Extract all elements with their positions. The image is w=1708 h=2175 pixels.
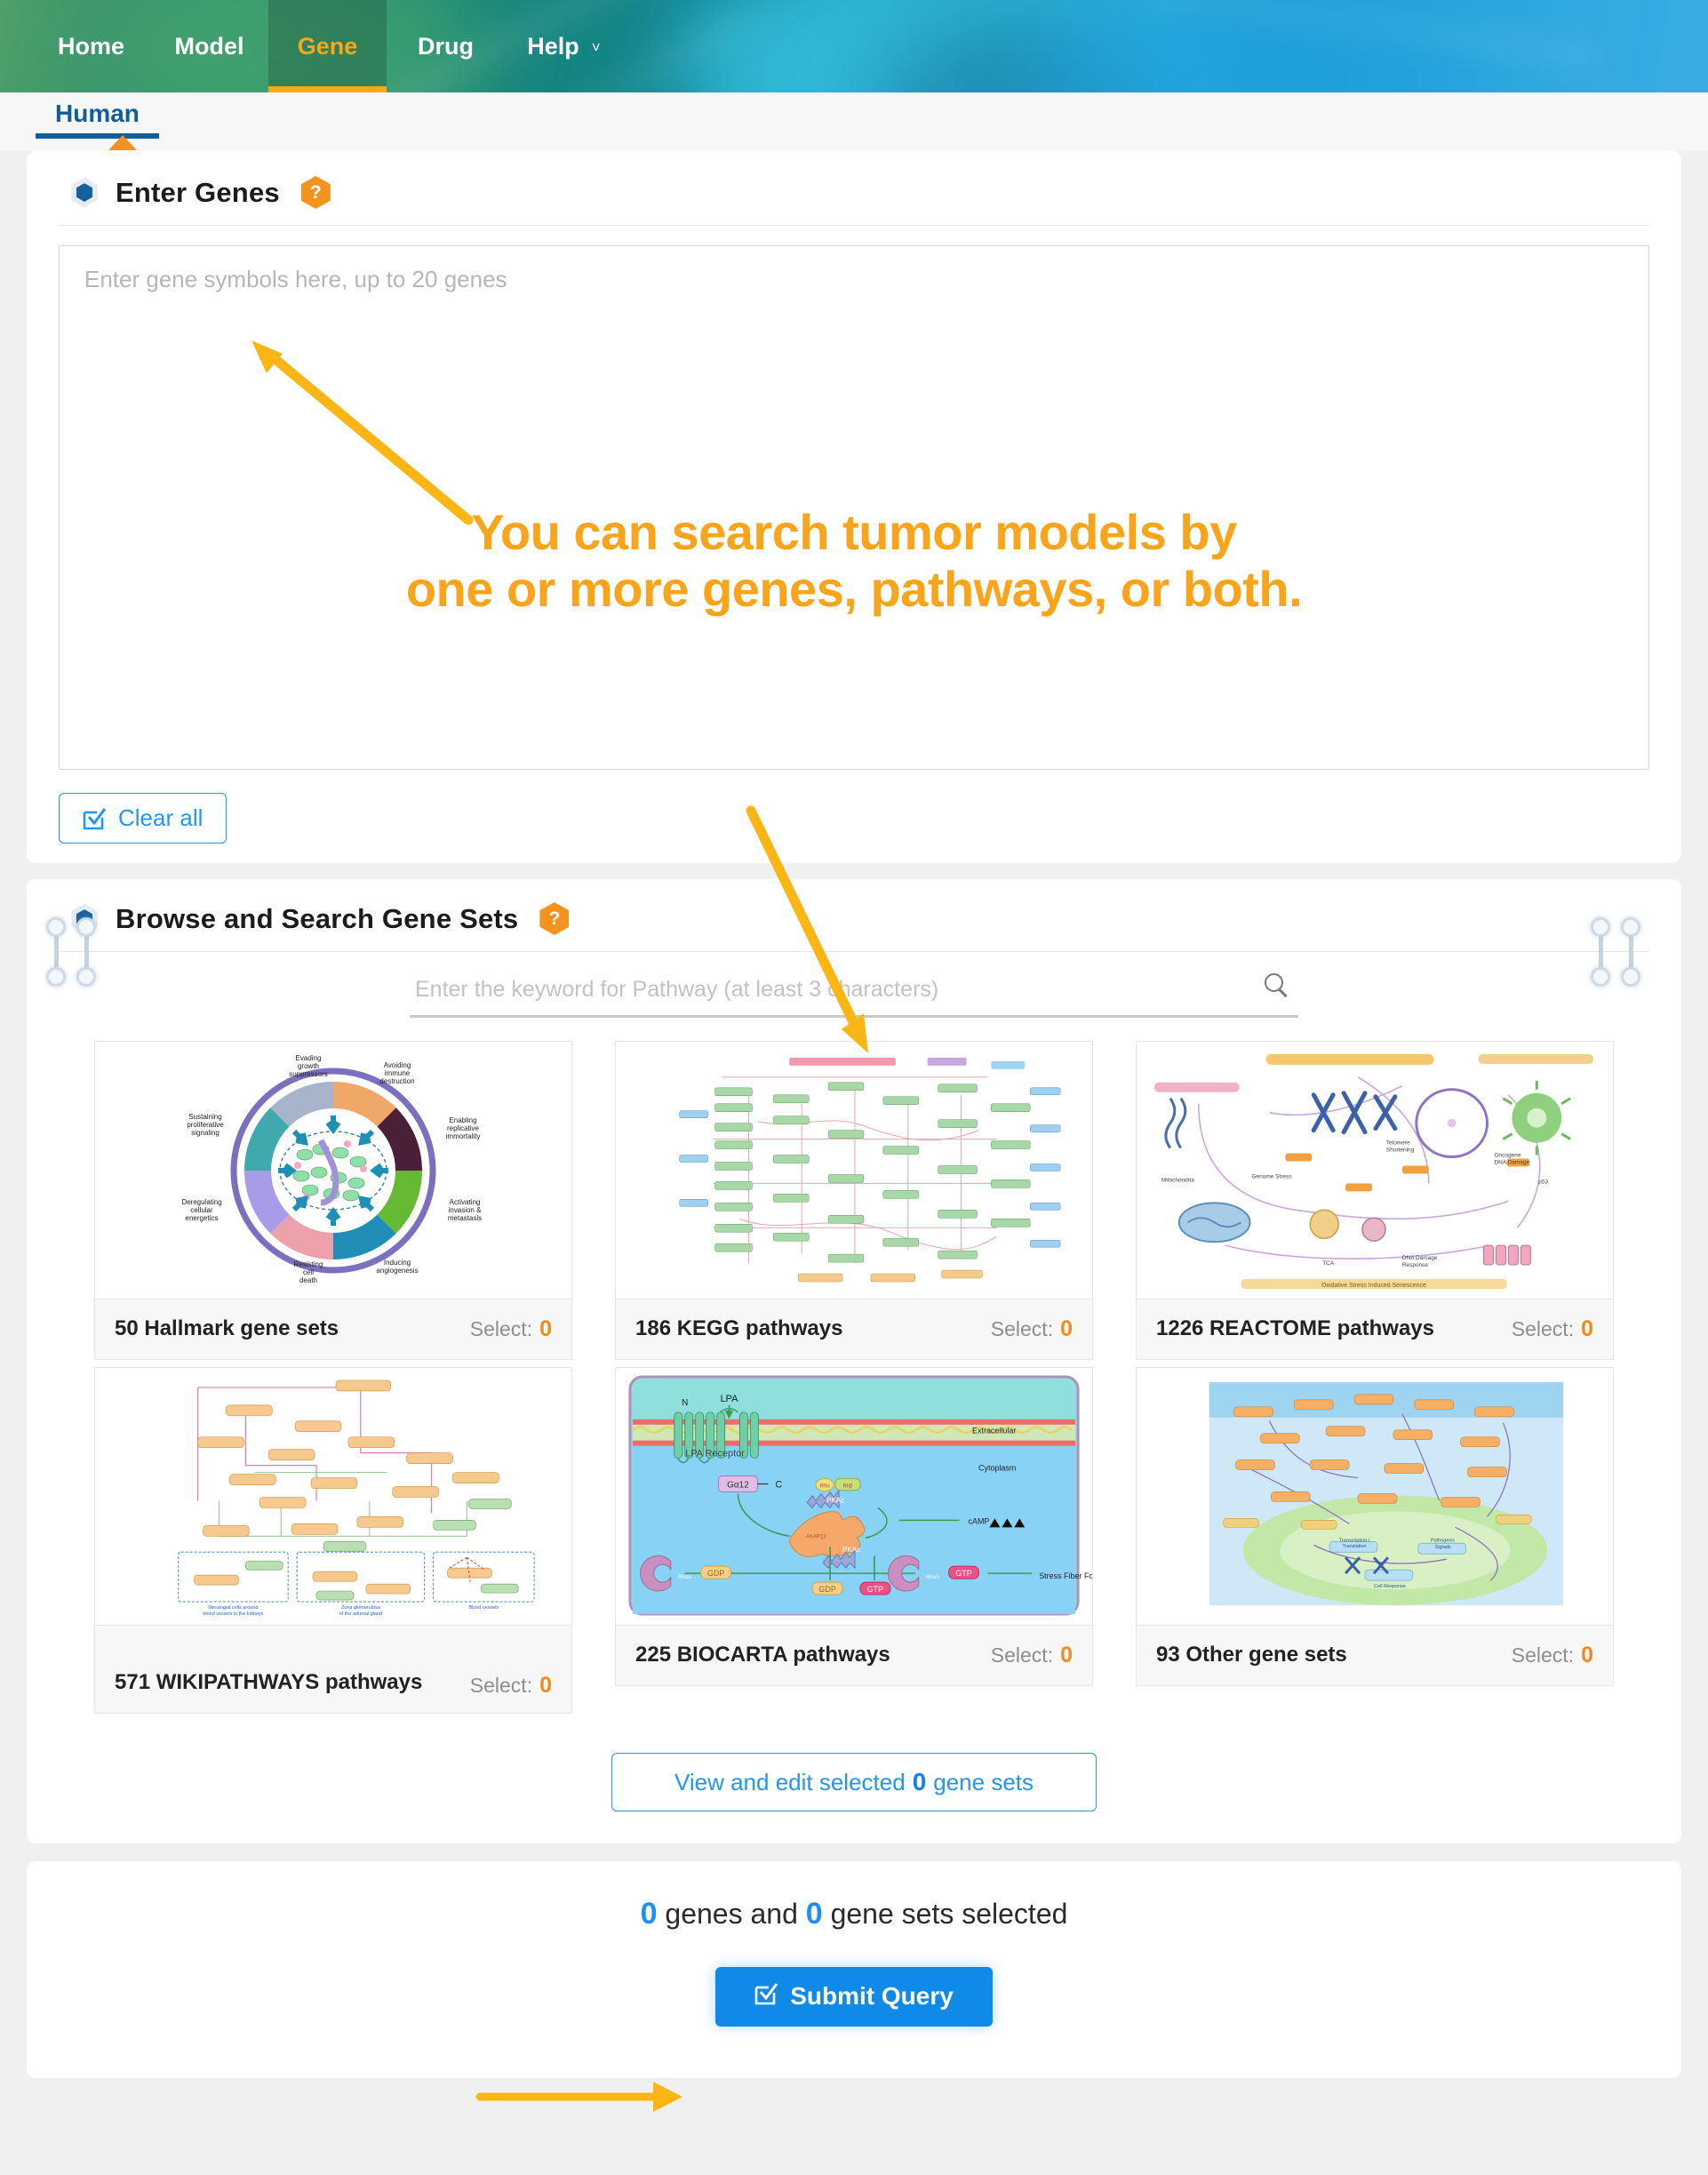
chevron-down-icon: ˅ xyxy=(592,2,601,92)
genes-word: genes and xyxy=(665,1898,797,1930)
gene-set-name: 225 BIOCARTA pathways xyxy=(635,1640,890,1671)
view-edit-prefix: View and edit selected xyxy=(674,1769,906,1795)
divider xyxy=(59,951,1649,952)
reactome-diagram-icon: Genome StressTelomere ShorteningOncogene… xyxy=(1136,1041,1614,1299)
pathway-search-placeholder: Enter the keyword for Pathway (at least … xyxy=(410,977,1298,1003)
submit-panel: 0 genes and 0 gene sets selected Submit … xyxy=(27,1861,1681,2078)
gene-set-selected-count: Select:0 xyxy=(470,1316,552,1342)
nav-item-help[interactable]: Help˅ xyxy=(505,0,623,92)
svg-text:Deregulating: Deregulating xyxy=(181,1198,221,1206)
nav-item-label: Gene xyxy=(298,33,358,60)
gene-sets-count: 0 xyxy=(806,1897,823,1931)
svg-text:Enabling: Enabling xyxy=(449,1116,476,1124)
gene-set-card-meta: 225 BIOCARTA pathways Select:0 xyxy=(615,1625,1093,1686)
svg-text:Blood vessels: Blood vessels xyxy=(468,1605,499,1611)
gene-sets-word: gene sets selected xyxy=(831,1898,1068,1930)
svg-text:TCA: TCA xyxy=(1322,1260,1335,1267)
gene-set-card-reactome[interactable]: Genome StressTelomere ShorteningOncogene… xyxy=(1136,1041,1614,1360)
svg-text:Pathogenic: Pathogenic xyxy=(1431,1538,1456,1543)
svg-text:Cell Response: Cell Response xyxy=(1374,1584,1406,1589)
svg-text:of the adrenal gland: of the adrenal gland xyxy=(339,1611,382,1617)
svg-text:cAMP: cAMP xyxy=(969,1516,990,1525)
svg-text:Zona glomerulosa: Zona glomerulosa xyxy=(341,1605,381,1611)
view-edit-count: 0 xyxy=(913,1768,927,1795)
svg-text:RhoA: RhoA xyxy=(926,1575,939,1580)
gene-set-card-kegg[interactable]: 186 KEGG pathways Select:0 xyxy=(615,1041,1093,1360)
gene-set-selected-count: Select:0 xyxy=(1512,1316,1593,1342)
view-edit-selected-button[interactable]: View and edit selected0gene sets xyxy=(611,1753,1097,1811)
svg-text:GDP: GDP xyxy=(707,1569,724,1578)
genes-count: 0 xyxy=(641,1897,658,1931)
hallmarks-of-cancer-wheel-icon: Evadinggrowthsuppressors Avoidingimmuned… xyxy=(94,1041,572,1299)
svg-text:Response: Response xyxy=(1402,1262,1429,1268)
svg-text:N: N xyxy=(682,1398,688,1408)
gene-set-name: 1226 REACTOME pathways xyxy=(1156,1314,1434,1345)
site-header: Home Model Gene Drug Help˅ xyxy=(0,0,1708,92)
svg-text:Translation: Translation xyxy=(1343,1544,1367,1549)
biocarta-membrane-diagram-icon: LPA N LPA Receptor Gα12 C Extracellular … xyxy=(615,1367,1093,1625)
gene-set-selected-count: Select:0 xyxy=(991,1643,1073,1668)
svg-text:DNA Damage: DNA Damage xyxy=(1402,1255,1438,1261)
svg-text:p53: p53 xyxy=(1538,1179,1548,1185)
svg-text:Cytoplasm: Cytoplasm xyxy=(978,1463,1016,1472)
divider xyxy=(59,225,1649,226)
browse-gene-sets-panel: Browse and Search Gene Sets ? Enter the … xyxy=(27,879,1681,1843)
svg-text:GDP: GDP xyxy=(818,1585,835,1594)
checkbox-check-icon xyxy=(83,807,106,830)
gene-set-name: 571 WIKIPATHWAYS pathways xyxy=(115,1667,422,1699)
nav-item-home[interactable]: Home xyxy=(32,0,150,92)
svg-text:growth: growth xyxy=(298,1062,319,1070)
gene-set-name: 186 KEGG pathways xyxy=(635,1314,842,1345)
view-edit-suffix: gene sets xyxy=(933,1769,1034,1795)
gene-set-card-hallmark[interactable]: Evadinggrowthsuppressors Avoidingimmuned… xyxy=(94,1041,572,1360)
svg-text:DNA Damage: DNA Damage xyxy=(1494,1159,1529,1165)
svg-text:Stress Fiber Formation: Stress Fiber Formation xyxy=(1039,1571,1092,1580)
hexagon-bullet-icon xyxy=(69,178,100,208)
other-gene-sets-diagram-icon: Transcription /Translation PathogenicSig… xyxy=(1136,1367,1614,1625)
svg-text:LPA: LPA xyxy=(721,1394,739,1404)
gene-set-card-meta: 186 KEGG pathways Select:0 xyxy=(615,1299,1093,1360)
svg-text:Transcription /: Transcription / xyxy=(1339,1538,1370,1543)
svg-text:Telomere: Telomere xyxy=(1386,1140,1410,1147)
svg-text:PKAc: PKAc xyxy=(842,1546,860,1554)
selection-summary: 0 genes and 0 gene sets selected xyxy=(53,1897,1655,1931)
svg-text:PKAc: PKAc xyxy=(826,1496,844,1504)
svg-text:proliferative: proliferative xyxy=(187,1121,224,1129)
gene-set-selected-count: Select:0 xyxy=(991,1316,1073,1342)
kegg-pathway-map-icon xyxy=(615,1041,1093,1299)
svg-text:GTP: GTP xyxy=(955,1569,971,1578)
nav-item-drug[interactable]: Drug xyxy=(387,0,505,92)
svg-text:Oxidative Stress Induced Senes: Oxidative Stress Induced Senescence xyxy=(1321,1283,1426,1289)
section-title: Browse and Search Gene Sets xyxy=(116,903,518,935)
svg-text:blood vessels in the kidneys: blood vessels in the kidneys xyxy=(203,1611,263,1617)
svg-text:Gα12: Gα12 xyxy=(727,1480,749,1490)
species-tabstrip: Human xyxy=(0,92,1708,151)
svg-text:RIIβ: RIIβ xyxy=(842,1483,853,1489)
svg-text:immune: immune xyxy=(385,1069,411,1077)
tab-label: Human xyxy=(55,100,140,127)
gene-set-selected-count: Select:0 xyxy=(470,1673,552,1699)
submit-query-button[interactable]: Submit Query xyxy=(715,1967,993,2027)
svg-text:Inducing: Inducing xyxy=(384,1259,411,1267)
svg-text:replicative: replicative xyxy=(447,1124,480,1132)
gene-set-selected-count: Select:0 xyxy=(1512,1643,1593,1668)
annotation-arrow-head xyxy=(653,2082,682,2112)
pathway-search-input[interactable]: Enter the keyword for Pathway (at least … xyxy=(410,972,1298,1018)
help-icon[interactable]: ? xyxy=(539,902,569,935)
nav-item-label: Help xyxy=(527,33,579,60)
svg-text:metastasis: metastasis xyxy=(448,1214,482,1222)
svg-text:Sustaining: Sustaining xyxy=(188,1113,221,1121)
enter-genes-header: Enter Genes ? xyxy=(53,176,1655,209)
gene-symbols-input[interactable]: Enter gene symbols here, up to 20 genes … xyxy=(59,245,1649,770)
svg-text:Mitochondria: Mitochondria xyxy=(1161,1177,1194,1183)
enter-genes-panel: Enter Genes ? Enter gene symbols here, u… xyxy=(27,151,1681,863)
svg-text:invasion &: invasion & xyxy=(449,1206,483,1214)
svg-text:Avoiding: Avoiding xyxy=(384,1061,411,1069)
svg-text:immortality: immortality xyxy=(446,1132,481,1140)
gene-set-card-grid: Evadinggrowthsuppressors Avoidingimmuned… xyxy=(53,1041,1655,1714)
gene-set-name: 50 Hallmark gene sets xyxy=(115,1314,339,1345)
help-icon[interactable]: ? xyxy=(301,176,331,209)
svg-text:Genome Stress: Genome Stress xyxy=(1252,1173,1292,1179)
submit-row: Submit Query xyxy=(53,1967,1655,2027)
clear-all-button[interactable]: Clear all xyxy=(59,793,227,844)
nav-item-label: Model xyxy=(175,33,244,60)
svg-text:death: death xyxy=(299,1276,317,1284)
gene-set-card-other[interactable]: Transcription /Translation PathogenicSig… xyxy=(1136,1367,1614,1686)
nav-item-label: Drug xyxy=(418,33,474,60)
promo-banner-line-1: You can search tumor models by xyxy=(60,504,1648,561)
promo-banner-line-2: one or more genes, pathways, or both. xyxy=(60,561,1648,618)
svg-text:Mesangial cells around: Mesangial cells around xyxy=(208,1605,258,1611)
search-icon[interactable] xyxy=(1265,973,1289,998)
gene-set-card-meta: 50 Hallmark gene sets Select:0 xyxy=(94,1299,572,1360)
tab-human[interactable]: Human xyxy=(55,100,140,139)
gene-set-card-biocarta[interactable]: LPA N LPA Receptor Gα12 C Extracellular … xyxy=(615,1367,1093,1686)
gene-set-card-meta: 93 Other gene sets Select:0 xyxy=(1136,1625,1614,1686)
svg-text:cell: cell xyxy=(303,1268,314,1276)
page-title: Enter Genes xyxy=(116,177,280,209)
svg-text:Oncogene: Oncogene xyxy=(1494,1153,1520,1159)
svg-text:Shortening: Shortening xyxy=(1386,1147,1415,1154)
gene-set-card-meta: 571 WIKIPATHWAYS pathways Select:0 xyxy=(94,1625,572,1714)
nav-item-gene[interactable]: Gene xyxy=(268,0,387,92)
svg-text:Activating: Activating xyxy=(450,1198,481,1206)
clear-all-label: Clear all xyxy=(118,804,203,832)
gene-set-name: 93 Other gene sets xyxy=(1156,1640,1347,1671)
checkbox-check-icon xyxy=(754,1982,778,2011)
svg-text:Evading: Evading xyxy=(296,1054,322,1062)
svg-text:C: C xyxy=(775,1479,782,1490)
svg-text:Extracellular: Extracellular xyxy=(972,1427,1016,1435)
svg-text:LPA Receptor: LPA Receptor xyxy=(685,1448,745,1459)
promo-banner-text: You can search tumor models by one or mo… xyxy=(60,504,1648,619)
svg-text:energetics: energetics xyxy=(186,1214,219,1222)
svg-text:RhoA: RhoA xyxy=(678,1575,691,1580)
svg-text:cellular: cellular xyxy=(190,1206,213,1214)
tab-active-pointer-icon xyxy=(108,135,137,150)
svg-text:AKAP13: AKAP13 xyxy=(806,1534,826,1539)
nav-item-model[interactable]: Model xyxy=(150,0,268,92)
svg-text:signaling: signaling xyxy=(191,1129,219,1137)
svg-text:RIIα: RIIα xyxy=(820,1483,831,1489)
gene-set-card-wikipathways[interactable]: Mesangial cells aroundblood vessels in t… xyxy=(94,1367,572,1714)
svg-text:destruction: destruction xyxy=(379,1077,414,1085)
gene-input-placeholder: Enter gene symbols here, up to 20 genes xyxy=(84,266,507,293)
svg-text:Resisting: Resisting xyxy=(294,1260,323,1268)
browse-gene-sets-header: Browse and Search Gene Sets ? xyxy=(53,902,1655,935)
gene-set-card-meta: 1226 REACTOME pathways Select:0 xyxy=(1136,1299,1614,1360)
svg-text:suppressors: suppressors xyxy=(289,1070,328,1078)
svg-text:angiogenesis: angiogenesis xyxy=(376,1267,418,1275)
nav-item-label: Home xyxy=(58,33,124,60)
svg-text:GTP: GTP xyxy=(867,1585,883,1594)
submit-query-label: Submit Query xyxy=(790,1982,954,2011)
main-nav: Home Model Gene Drug Help˅ xyxy=(0,0,1708,92)
wikipathways-diagram-icon: Mesangial cells aroundblood vessels in t… xyxy=(94,1367,572,1625)
svg-text:Signals: Signals xyxy=(1435,1545,1451,1550)
